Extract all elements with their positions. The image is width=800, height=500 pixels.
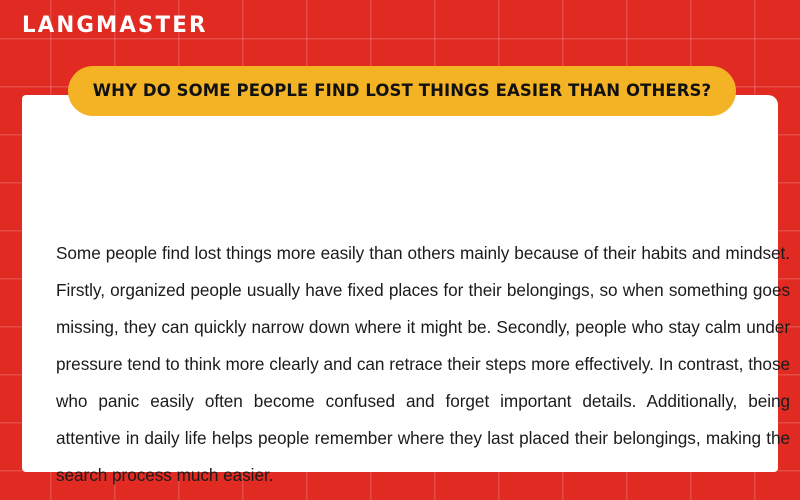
poster-canvas: LANGMASTER Some people find lost things … bbox=[0, 0, 800, 500]
content-card: Some people find lost things more easily… bbox=[22, 95, 778, 472]
body-paragraph: Some people find lost things more easily… bbox=[56, 235, 790, 494]
title-banner: WHY DO SOME PEOPLE FIND LOST THINGS EASI… bbox=[68, 66, 736, 116]
brand-logo: LANGMASTER bbox=[22, 12, 208, 40]
page-title: WHY DO SOME PEOPLE FIND LOST THINGS EASI… bbox=[93, 81, 711, 101]
